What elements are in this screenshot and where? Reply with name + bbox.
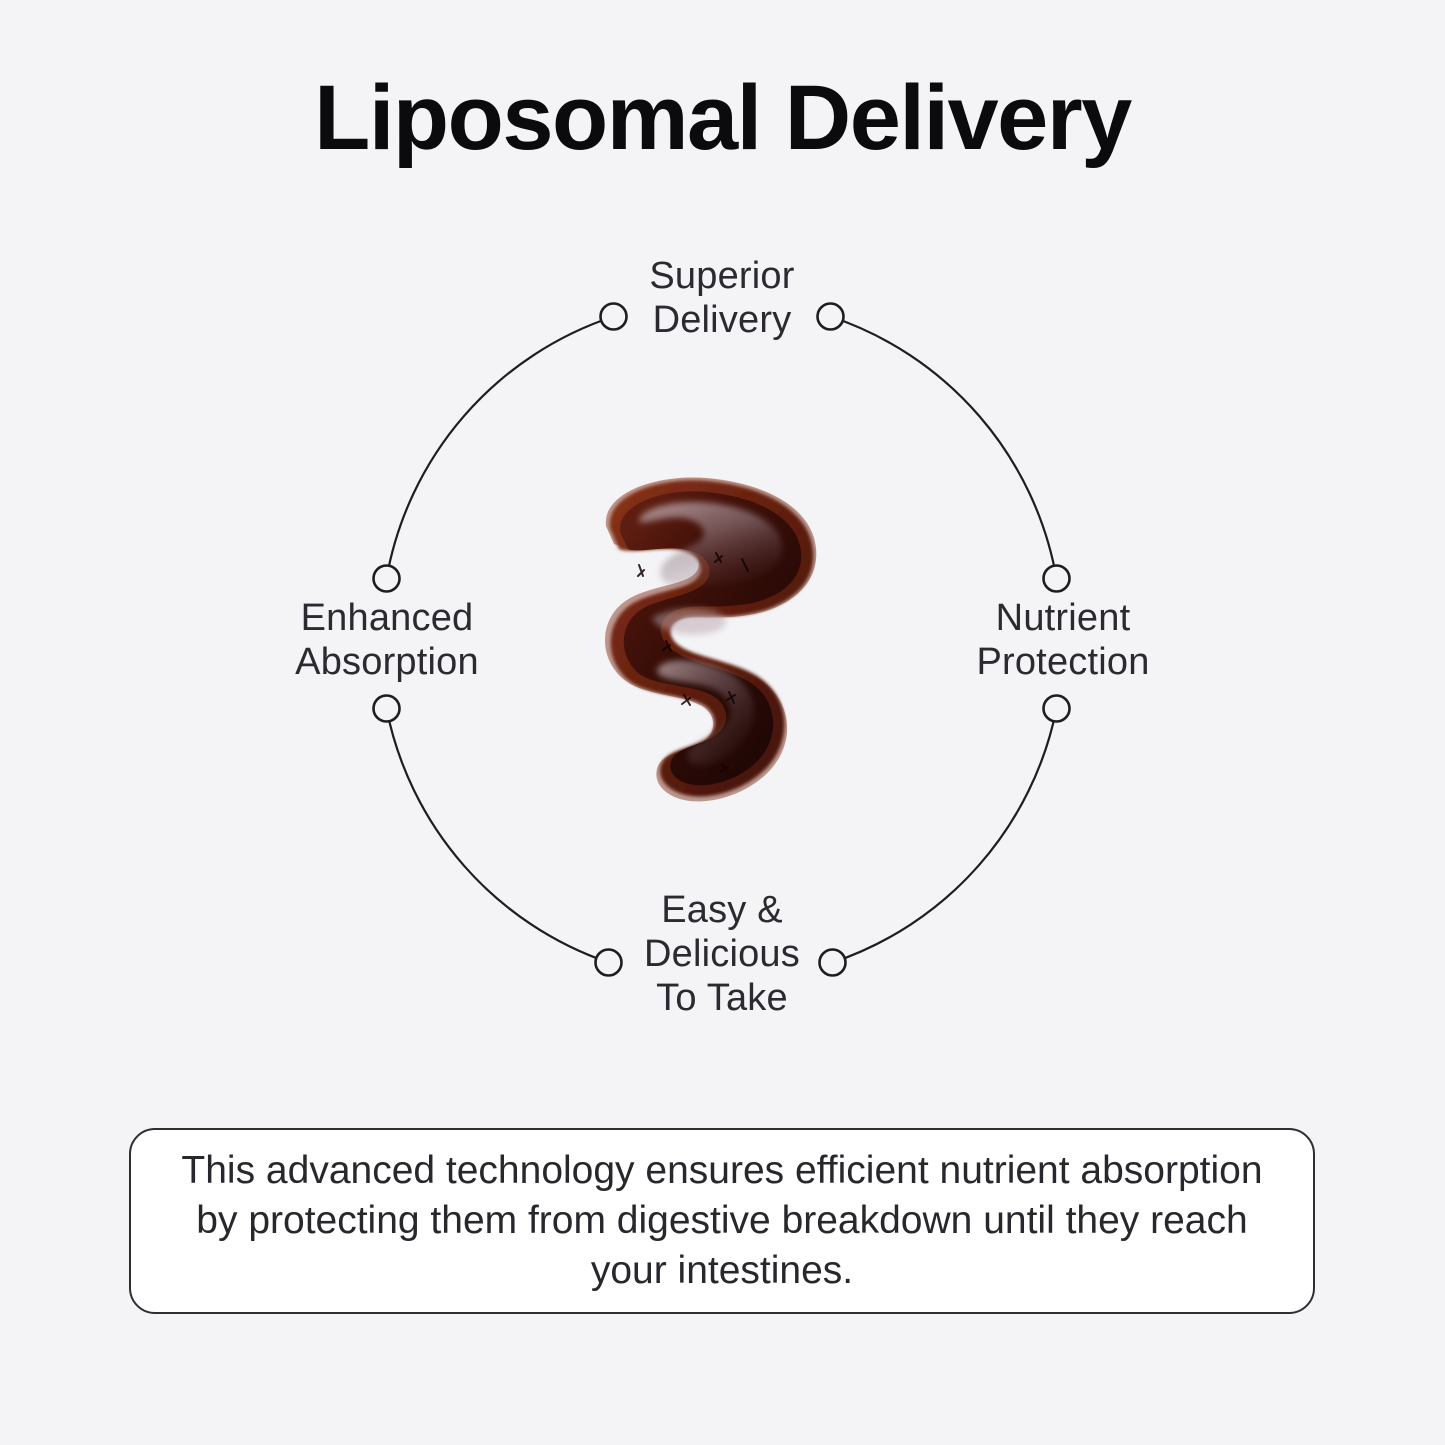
caption-text: This advanced technology ensures efficie… [137,1146,1307,1296]
node-label-easy-delicious-to-take: Easy & Delicious To Take [562,888,882,1020]
node-marker-right-upper[interactable] [1044,566,1070,592]
syrup-squiggle-icon [566,466,866,816]
liposomal-syrup-graphic [566,466,866,816]
infographic-canvas: Liposomal Delivery [0,0,1445,1445]
node-label-nutrient-protection: Nutrient Protection [903,596,1223,684]
benefit-ring-diagram: Superior Delivery Nutrient Protection Ea… [0,0,1445,1100]
node-marker-left-lower[interactable] [374,696,400,722]
node-marker-right-lower[interactable] [1044,696,1070,722]
node-label-enhanced-absorption: Enhanced Absorption [227,596,547,684]
node-marker-left-upper[interactable] [374,566,400,592]
node-label-superior-delivery: Superior Delivery [522,254,922,342]
caption-box: This advanced technology ensures efficie… [129,1128,1315,1314]
